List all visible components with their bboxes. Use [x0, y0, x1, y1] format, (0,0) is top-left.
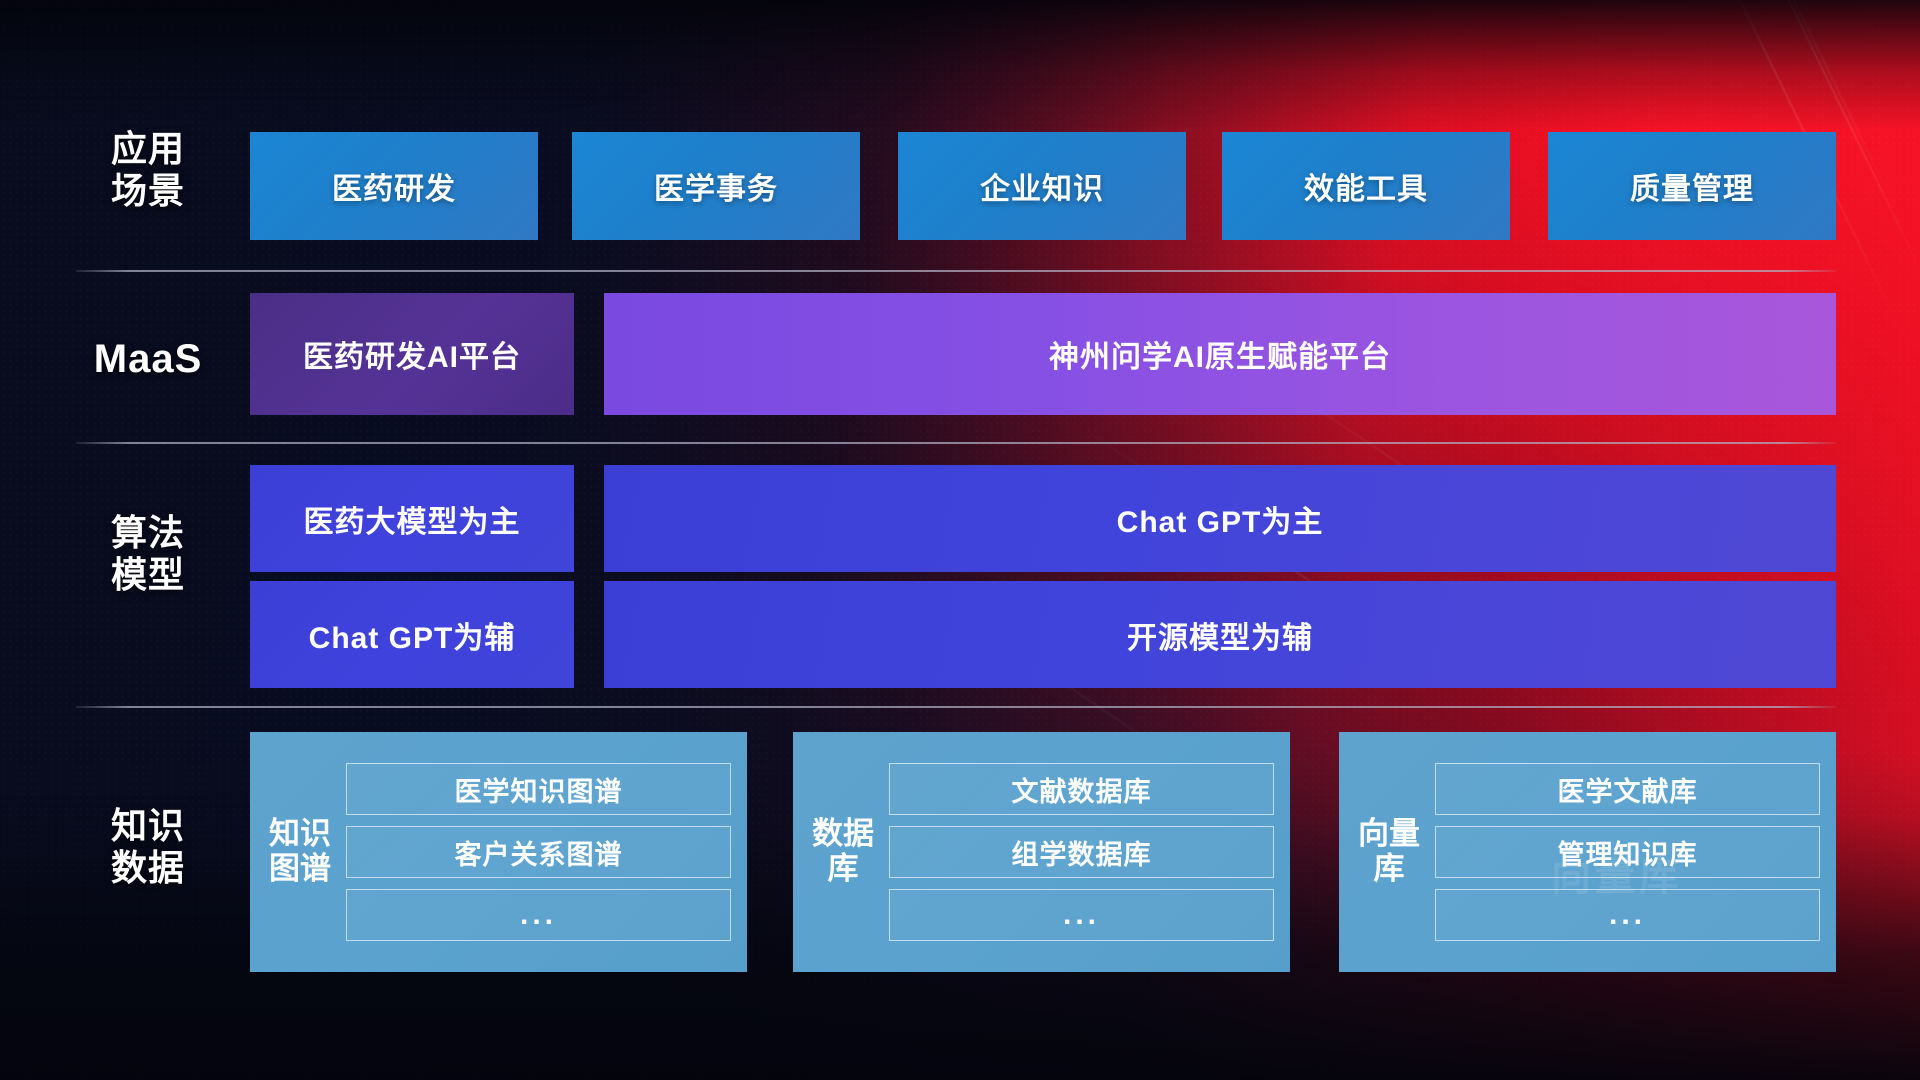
- app-box-enterprise-knowledge[interactable]: 企业知识: [898, 132, 1186, 240]
- maas-box-shenzhou-wenxue-platform[interactable]: 神州问学AI原生赋能平台: [604, 293, 1836, 415]
- row-label-application-line2: 场景: [68, 170, 228, 212]
- algo-box-pharma-large-model-primary[interactable]: 医药大模型为主: [250, 465, 574, 572]
- knowledge-group-database: 数据库 文献数据库 组学数据库 ...: [793, 732, 1290, 972]
- row-label-application-line1: 应用: [68, 128, 228, 170]
- knowledge-item-medical-literature-store[interactable]: 医学文献库: [1435, 763, 1820, 815]
- app-box-medicine-rd[interactable]: 医药研发: [250, 132, 538, 240]
- knowledge-item-database-more[interactable]: ...: [889, 889, 1274, 941]
- algo-box-opensource-secondary[interactable]: 开源模型为辅: [604, 581, 1836, 688]
- knowledge-group-graph: 知识图谱 医学知识图谱 客户关系图谱 ...: [250, 732, 747, 972]
- algo-box-chatgpt-secondary[interactable]: Chat GPT为辅: [250, 581, 574, 688]
- row-label-knowledge-line1: 知识: [68, 805, 228, 847]
- knowledge-group-vector-store: 向量库 医学文献库 管理知识库 ... 向量库: [1339, 732, 1836, 972]
- divider-application-maas: [76, 270, 1836, 272]
- architecture-diagram-canvas: 应用 场景 医药研发 医学事务 企业知识 效能工具 质量管理 MaaS 医药研发…: [0, 0, 1920, 1080]
- row-label-maas: MaaS: [68, 336, 228, 383]
- row-label-application: 应用 场景: [68, 128, 228, 213]
- knowledge-group-graph-label: 知识图谱: [268, 817, 332, 886]
- knowledge-item-literature-database[interactable]: 文献数据库: [889, 763, 1274, 815]
- app-box-quality-management[interactable]: 质量管理: [1548, 132, 1836, 240]
- divider-algorithm-knowledge: [76, 706, 1836, 708]
- maas-box-pharma-ai-platform[interactable]: 医药研发AI平台: [250, 293, 574, 415]
- knowledge-group-vector-store-label: 向量库: [1357, 817, 1421, 886]
- knowledge-item-medical-knowledge-graph[interactable]: 医学知识图谱: [346, 763, 731, 815]
- app-box-efficiency-tools[interactable]: 效能工具: [1222, 132, 1510, 240]
- knowledge-item-customer-relation-graph[interactable]: 客户关系图谱: [346, 826, 731, 878]
- knowledge-item-graph-more[interactable]: ...: [346, 889, 731, 941]
- knowledge-item-vector-store-more[interactable]: ...: [1435, 889, 1820, 941]
- app-box-medical-affairs[interactable]: 医学事务: [572, 132, 860, 240]
- algo-box-chatgpt-primary[interactable]: Chat GPT为主: [604, 465, 1836, 572]
- knowledge-item-management-knowledge-store[interactable]: 管理知识库: [1435, 826, 1820, 878]
- knowledge-item-omics-database[interactable]: 组学数据库: [889, 826, 1274, 878]
- row-label-knowledge: 知识 数据: [68, 805, 228, 890]
- knowledge-group-database-label: 数据库: [811, 817, 875, 886]
- row-label-algorithm: 算法 模型: [68, 512, 228, 597]
- row-label-algorithm-line2: 模型: [68, 554, 228, 596]
- row-label-knowledge-line2: 数据: [68, 847, 228, 889]
- divider-maas-algorithm: [76, 442, 1836, 444]
- row-label-algorithm-line1: 算法: [68, 512, 228, 554]
